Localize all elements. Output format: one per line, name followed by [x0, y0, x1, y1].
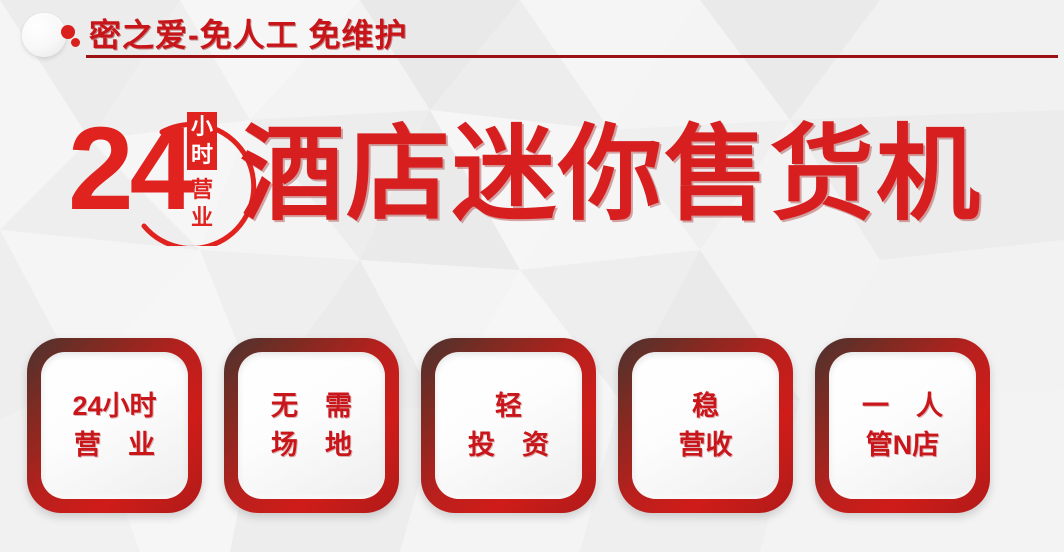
promo-banner: 密之爱-免人工 免维护 24 小时 营业 酒店迷你售货机 24小时 营 业 无 … — [0, 0, 1064, 552]
hero-title: 酒店迷你售货机 — [240, 110, 982, 240]
feature-line-2: 营 业 — [74, 426, 155, 464]
circle-badge-icon — [22, 13, 66, 57]
feature-box-no-venue-needed: 无 需 场 地 — [224, 338, 399, 513]
feature-list: 24小时 营 业 无 需 场 地 轻 投 资 稳 营收 一 人 — [0, 338, 1064, 520]
feature-inner-panel: 轻 投 资 — [435, 352, 582, 499]
feature-box-24-hour-service: 24小时 营 业 — [27, 338, 202, 513]
logo-sub-label: 营业 — [187, 176, 217, 232]
feature-line-2: 场 地 — [271, 426, 352, 464]
feature-line-1: 轻 — [495, 387, 522, 425]
header-divider — [86, 55, 1058, 58]
feature-line-1: 稳 — [692, 387, 719, 425]
feature-line-1: 24小时 — [72, 387, 156, 425]
feature-inner-panel: 无 需 场 地 — [238, 352, 385, 499]
hero-section: 24 小时 营业 酒店迷你售货机 — [0, 96, 1064, 276]
twenty-four-hour-logo: 24 小时 营业 — [68, 96, 243, 271]
feature-line-2: 投 资 — [468, 426, 549, 464]
red-dot-small-icon — [71, 38, 80, 47]
feature-box-light-investment: 轻 投 资 — [421, 338, 596, 513]
logo-chip-label: 小时 — [187, 112, 217, 170]
feature-line-1: 无 需 — [271, 387, 352, 425]
feature-box-one-person-many-stores: 一 人 管N店 — [815, 338, 990, 513]
feature-inner-panel: 稳 营收 — [632, 352, 779, 499]
red-dot-large-icon — [61, 25, 75, 39]
header-title: 密之爱-免人工 免维护 — [89, 10, 408, 56]
feature-box-stable-revenue: 稳 营收 — [618, 338, 793, 513]
feature-line-1: 一 人 — [862, 387, 943, 425]
feature-line-2: 管N店 — [866, 426, 940, 464]
banner-header: 密之爱-免人工 免维护 — [0, 0, 1064, 62]
logo-number: 24 — [68, 110, 191, 228]
feature-inner-panel: 一 人 管N店 — [829, 352, 976, 499]
feature-line-2: 营收 — [679, 426, 733, 464]
feature-inner-panel: 24小时 营 业 — [41, 352, 188, 499]
